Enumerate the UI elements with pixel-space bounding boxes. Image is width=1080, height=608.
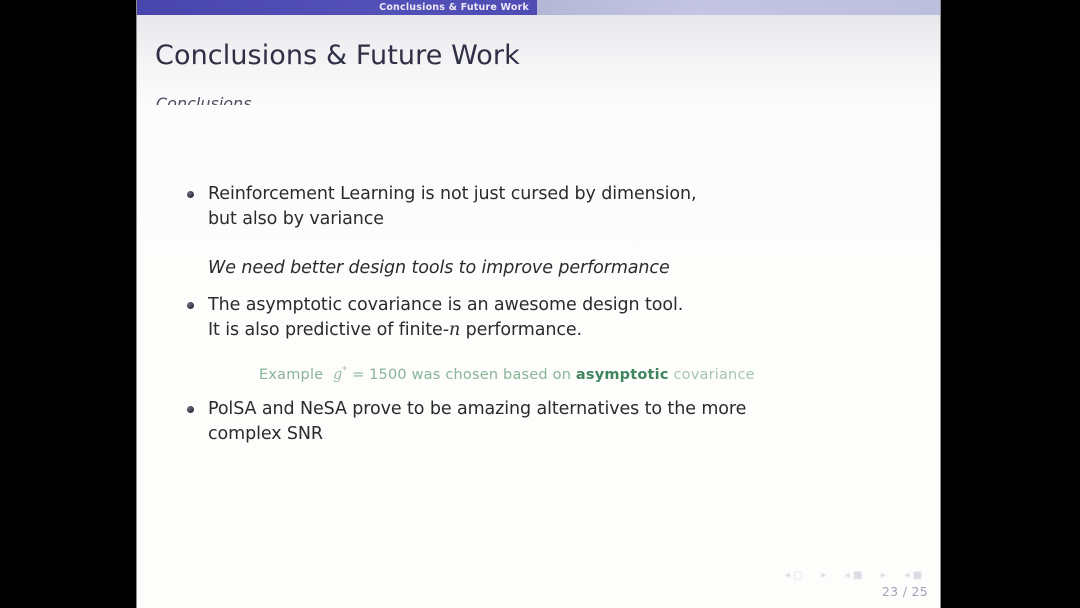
letterbox-left (0, 0, 137, 608)
slide-body: Reinforcement Learning is not just curse… (137, 105, 940, 608)
bullet-item-1-line-2: but also by variance (208, 207, 908, 232)
bullet-item-3: PolSA and NeSA prove to be amazing alter… (208, 397, 928, 447)
example-middle-text: was chosen based on (412, 367, 571, 383)
example-math-variable: g (333, 367, 342, 383)
bullet-item-1: Reinforcement Learning is not just curse… (208, 182, 908, 232)
example-value: 1500 (369, 367, 407, 383)
nav-glyph-slide-next[interactable]: ▸ (821, 570, 826, 581)
nav-glyph-slide-prev[interactable]: ◂ □ (785, 570, 803, 581)
bullet-item-2: The asymptotic covariance is an awesome … (208, 293, 908, 343)
bullet-marker (187, 302, 194, 309)
example-tail-text: covariance (673, 367, 754, 383)
headline-bar-inactive-section[interactable] (537, 0, 940, 15)
slide-title-block: Conclusions & Future Work Conclusions (137, 15, 940, 105)
bullet-marker (187, 406, 194, 413)
emphasis-note: We need better design tools to improve p… (208, 256, 908, 281)
bullet-item-2-line-1: The asymptotic covariance is an awesome … (208, 293, 908, 318)
example-annotation: Example g* = 1500 was chosen based on as… (259, 366, 755, 383)
screen-root: Conclusions & Future Work Conclusions & … (0, 0, 1080, 608)
nav-glyph-frame-prev[interactable]: ◂ ■ (845, 570, 863, 581)
letterbox-right (940, 0, 1080, 608)
bullet-item-2-line-2: It is also predictive of finite-n perfor… (208, 318, 908, 343)
nav-glyph-frame-next[interactable]: ▸ (881, 570, 886, 581)
example-math-superscript: * (342, 366, 347, 376)
beamer-headline-bar: Conclusions & Future Work (137, 0, 940, 15)
bullet-item-3-line-2: complex SNR (208, 422, 928, 447)
bullet-item-1-line-1: Reinforcement Learning is not just curse… (208, 182, 908, 207)
example-equals-sign: = (352, 367, 364, 383)
beamer-navigation-symbols[interactable]: ◂ □ ▸ ◂ ■ ▸ ◂ ■ ▸ ◂ ⬛ ▸ ⬤ ▸ ▸▸ (785, 566, 940, 584)
nav-glyph-subsection-prev[interactable]: ◂ ■ (905, 570, 923, 581)
example-strong-term: asymptotic (576, 367, 669, 383)
headline-section-title: Conclusions & Future Work (137, 0, 537, 15)
presentation-slide: Conclusions & Future Work Conclusions & … (137, 0, 940, 608)
bullet-item-2-line-2-text-b: performance. (460, 320, 582, 340)
slide-title: Conclusions & Future Work (155, 40, 520, 71)
bullet-item-3-line-1: PolSA and NeSA prove to be amazing alter… (208, 397, 928, 422)
bullet-item-2-line-2-text-a: It is also predictive of finite- (208, 320, 449, 340)
math-variable-n: n (449, 320, 460, 340)
bullet-marker (187, 191, 194, 198)
page-number: 23 / 25 (882, 584, 928, 599)
example-label: Example (259, 367, 323, 383)
